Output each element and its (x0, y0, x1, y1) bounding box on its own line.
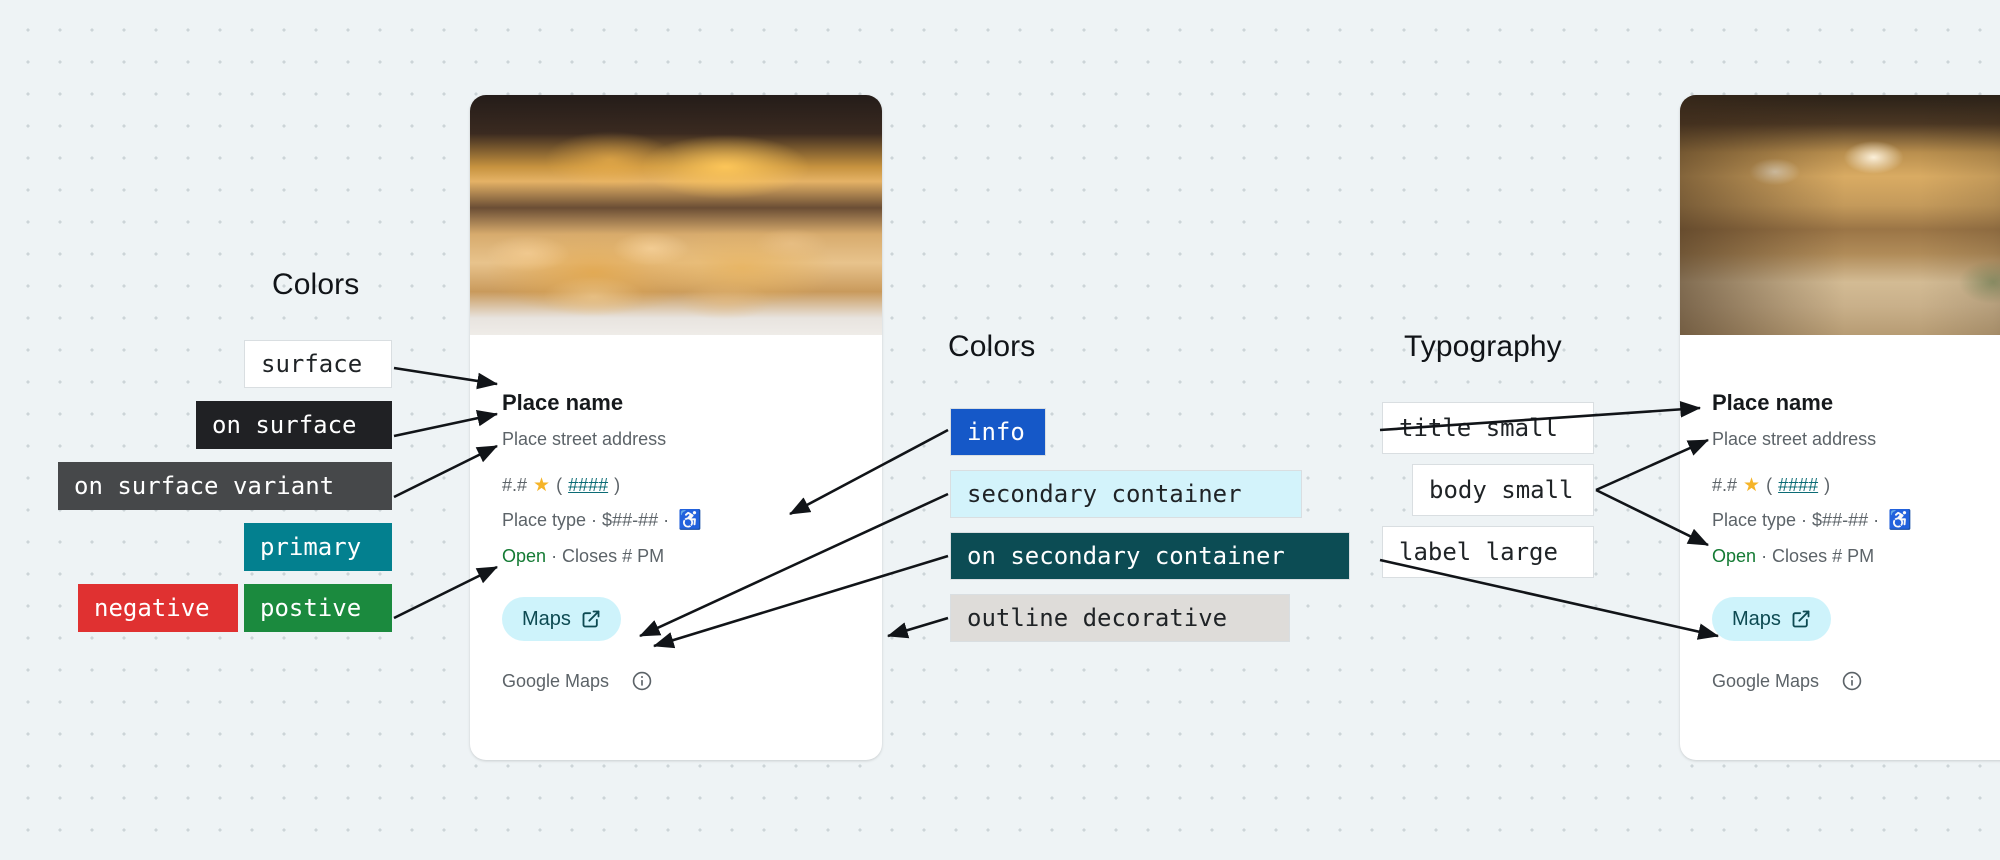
wheelchair-icon: ♿ (1888, 511, 1912, 530)
review-count-link[interactable]: #### (1778, 475, 1818, 496)
place-hours-row: Open · Closes # PM (502, 546, 664, 567)
place-details: Place type · $##-## · (1712, 510, 1879, 531)
place-rating-row: #.# ★ (####) (502, 475, 620, 496)
place-card-left[interactable]: Place name Place street address #.# ★ (#… (470, 95, 882, 760)
color-chip-on-surface[interactable]: on surface (196, 401, 392, 449)
color-chip-on-surface-variant[interactable]: on surface variant (58, 462, 392, 510)
external-link-icon (1791, 609, 1811, 629)
place-address: Place street address (1712, 429, 1876, 450)
color-chip-secondary-container[interactable]: secondary container (950, 470, 1302, 518)
place-address: Place street address (502, 429, 666, 450)
rating-paren-close: ) (614, 475, 620, 496)
place-hours-row: Open · Closes # PM (1712, 546, 1874, 567)
hours-detail: · Closes # PM (1761, 546, 1874, 566)
maps-button-label: Maps (522, 608, 571, 631)
place-rating-row: #.# ★ (####) (1712, 475, 1830, 496)
wheelchair-icon: ♿ (678, 511, 702, 530)
color-chip-postive[interactable]: postive (244, 584, 392, 632)
color-chip-label: negative (94, 596, 210, 620)
rating-value: #.# (502, 475, 527, 496)
color-chip-surface[interactable]: surface (244, 340, 392, 388)
place-card-right[interactable]: Place name Place street address #.# ★ (#… (1680, 95, 2000, 760)
place-name: Place name (502, 390, 623, 416)
color-chip-label: on secondary container (967, 544, 1285, 568)
maps-button[interactable]: Maps (502, 597, 621, 641)
rating-paren-open: ( (1766, 475, 1772, 496)
place-name: Place name (1712, 390, 1833, 416)
maps-button[interactable]: Maps (1712, 597, 1831, 641)
color-chip-label: outline decorative (967, 606, 1227, 630)
color-chip-label: on surface (212, 413, 357, 437)
place-card-body: Place name Place street address #.# ★ (#… (470, 335, 882, 760)
hours-detail: · Closes # PM (551, 546, 664, 566)
hours-open-status: Open (1712, 546, 1756, 566)
color-chip-label: primary (260, 535, 361, 559)
rating-value: #.# (1712, 475, 1737, 496)
rating-paren-open: ( (556, 475, 562, 496)
place-photo-bakery (470, 95, 882, 335)
section-title-typography: Typography (1404, 330, 1562, 364)
type-chip-body-small[interactable]: body small (1412, 464, 1594, 516)
color-chip-primary[interactable]: primary (244, 523, 392, 571)
external-link-icon (581, 609, 601, 629)
card-footer: Google Maps (502, 670, 653, 692)
color-chip-label: secondary container (967, 482, 1242, 506)
star-icon: ★ (1743, 476, 1760, 495)
info-icon[interactable] (1841, 670, 1863, 692)
place-photo-cafe (1680, 95, 2000, 335)
arrow-outline-decorative (888, 618, 948, 636)
color-chip-label: postive (260, 596, 361, 620)
section-title-colors-left: Colors (272, 268, 359, 302)
star-icon: ★ (533, 476, 550, 495)
type-chip-label: label large (1399, 540, 1558, 564)
color-chip-on-secondary-container[interactable]: on secondary container (950, 532, 1350, 580)
place-details-row: Place type · $##-## · ♿ (502, 510, 702, 531)
color-chip-info[interactable]: info (950, 408, 1046, 456)
type-chip-label: body small (1429, 478, 1574, 502)
info-icon[interactable] (631, 670, 653, 692)
canvas: Colors Colors Typography surface on surf… (0, 0, 2000, 860)
place-card-body: Place name Place street address #.# ★ (#… (1680, 335, 2000, 760)
review-count-link[interactable]: #### (568, 475, 608, 496)
footer-label: Google Maps (1712, 671, 1819, 692)
type-chip-label-large[interactable]: label large (1382, 526, 1594, 578)
type-chip-title-small[interactable]: title small (1382, 402, 1594, 454)
section-title-colors-mid: Colors (948, 330, 1035, 364)
color-chip-outline-decorative[interactable]: outline decorative (950, 594, 1290, 642)
footer-label: Google Maps (502, 671, 609, 692)
card-footer: Google Maps (1712, 670, 1863, 692)
hours-open-status: Open (502, 546, 546, 566)
type-chip-label: title small (1399, 416, 1558, 440)
rating-paren-close: ) (1824, 475, 1830, 496)
color-chip-negative[interactable]: negative (78, 584, 238, 632)
color-chip-label: on surface variant (74, 474, 334, 498)
maps-button-label: Maps (1732, 608, 1781, 631)
place-details: Place type · $##-## · (502, 510, 669, 531)
place-details-row: Place type · $##-## · ♿ (1712, 510, 1912, 531)
color-chip-label: info (967, 420, 1025, 444)
color-chip-label: surface (261, 352, 362, 376)
